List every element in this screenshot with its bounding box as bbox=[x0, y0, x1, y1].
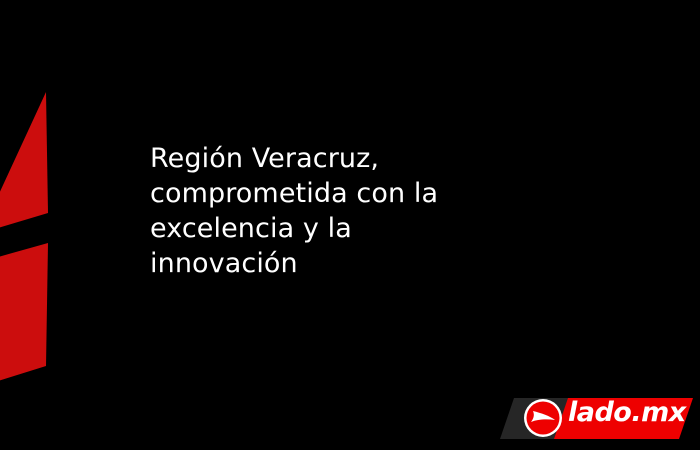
logo-wordmark: lado.mx bbox=[568, 398, 686, 428]
red-shape-lower bbox=[0, 243, 48, 381]
article-headline: Región Veracruz, comprometida con la exc… bbox=[150, 141, 550, 281]
decoration-red-chevron-shapes bbox=[0, 0, 120, 450]
site-logo[interactable]: lado.mx bbox=[500, 386, 695, 446]
red-shape-upper bbox=[0, 92, 48, 228]
screenshot-root: Región Veracruz, comprometida con la exc… bbox=[0, 0, 700, 450]
logo-emblem-icon bbox=[524, 399, 562, 437]
